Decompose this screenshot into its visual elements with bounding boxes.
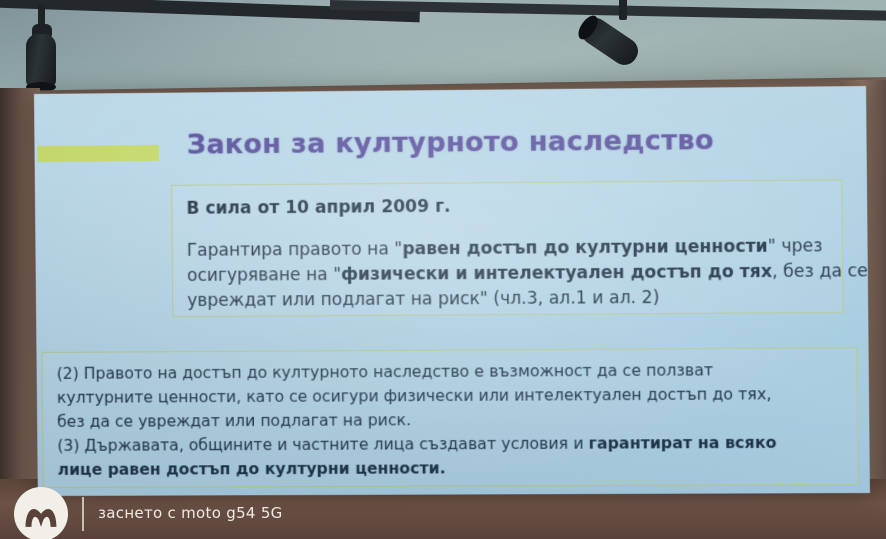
articles-paragraph: (2) Правото на достъп до културното насл… [57, 357, 846, 481]
emphasis-text: равен достъп до културни ценности [402, 237, 768, 260]
motorola-batwing-icon [14, 487, 68, 539]
text-line: културните ценности, като се осигури физ… [57, 382, 845, 410]
slide-title: Закон за културното наследство [187, 124, 816, 161]
spotlight-stem [619, 0, 627, 20]
watermark-text: заснето с moto g54 5G [98, 504, 283, 524]
guarantee-paragraph: Гарантира правото на "равен достъп до ку… [187, 234, 829, 314]
emphasis-text: гарантират на всяко [588, 434, 776, 453]
text-line: увреждат или подлагат на риск" (чл.3, ал… [187, 285, 828, 314]
plain-text: осигуряване на " [187, 265, 341, 286]
plain-text: културните ценности, като се осигури физ… [57, 385, 772, 407]
watermark-divider [82, 497, 84, 531]
plain-text: увреждат или подлагат на риск" (чл.3, ал… [187, 288, 659, 311]
text-line: лице равен достъп до културни ценности. [57, 455, 845, 482]
camera-watermark: заснето с moto g54 5G [14, 487, 283, 539]
batwing-glyph [22, 496, 60, 534]
track-spotlight-right-icon [575, 0, 685, 75]
projection-screen: Закон за културното наследство В сила от… [34, 86, 870, 496]
emphasis-text: лице равен достъп до културни ценности. [58, 459, 446, 479]
plain-text: без да се увреждат или подлагат на риск. [57, 411, 411, 431]
plain-text: " чрез [768, 236, 823, 257]
text-line: осигуряване на "физически и интелектуале… [187, 259, 828, 289]
track-spotlight-left-icon [12, 2, 82, 88]
slide-textbox-top: В сила от 10 април 2009 г. Гарантира пра… [171, 179, 844, 317]
spotlight-head [26, 34, 56, 89]
effective-date-line: В сила от 10 април 2009 г. [186, 192, 827, 222]
text-line: (3) Държавата, общините и частните лица … [57, 430, 845, 458]
slide-textbox-bottom: (2) Правото на достъп до културното насл… [41, 347, 858, 488]
plain-text: (2) Правото на достъп до културното насл… [57, 361, 714, 383]
plain-text: , без да се [772, 261, 868, 282]
text-line: без да се увреждат или подлагат на риск. [57, 406, 845, 434]
plain-text: (3) Държавата, общините и частните лица … [57, 435, 588, 455]
plain-text: Гарантира правото на " [187, 239, 403, 261]
photo-scene: Закон за културното наследство В сила от… [0, 0, 886, 539]
emphasis-text: физически и интелектуален достъп до тях [341, 262, 772, 285]
title-accent-bar [37, 145, 158, 162]
